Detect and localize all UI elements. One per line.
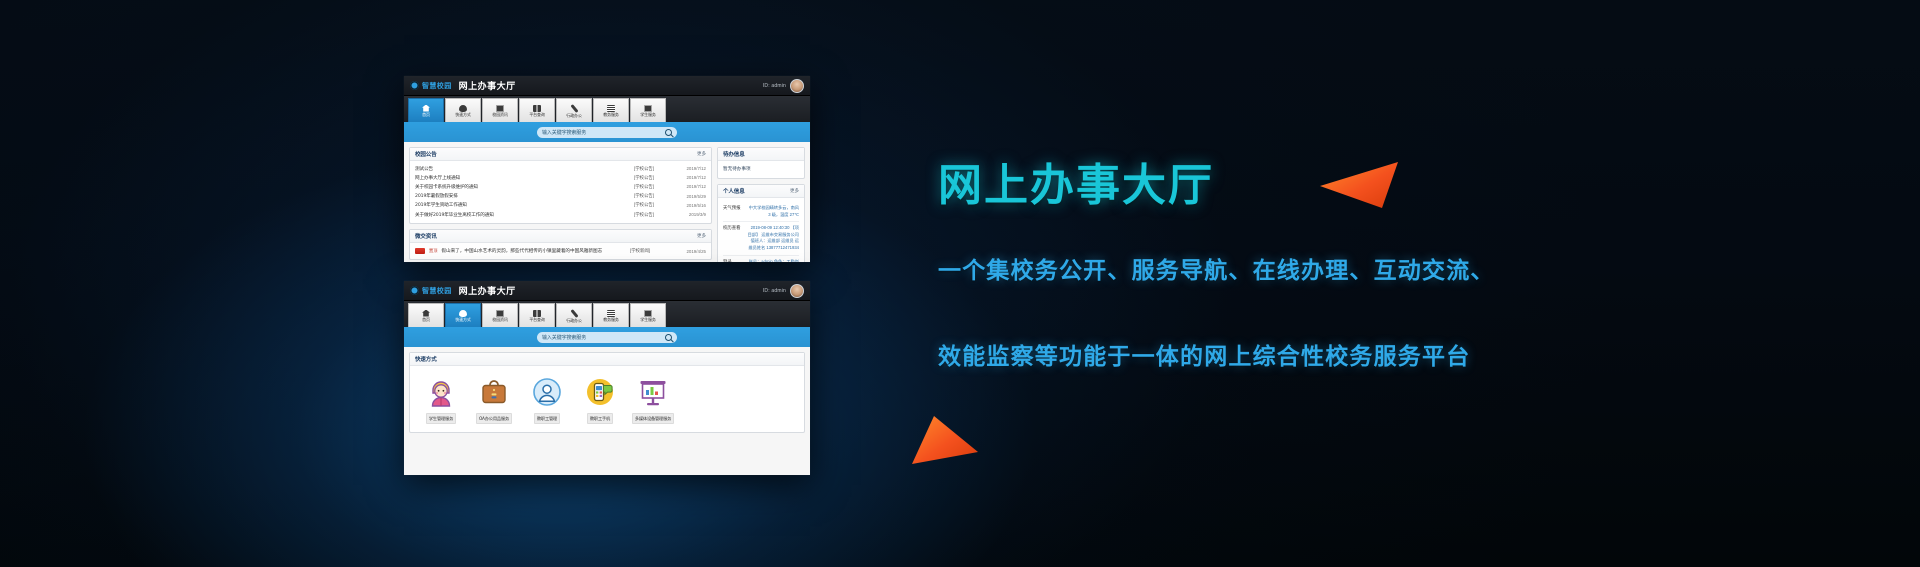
quick-access-card: 快速方式: [409, 352, 805, 433]
brand[interactable]: 智慧校园 网上办事大厅: [410, 79, 516, 92]
profile-card: 个人信息 更多 天气预报 中大学校园晴转多云，南风 3 级，温度 27℃ 校历查…: [717, 184, 805, 262]
news-tag: 置顶: [429, 248, 437, 254]
row-value: 中大学校园晴转多云，南风 3 级，温度 27℃: [747, 205, 799, 218]
primary-nav[interactable]: 首页 快速方式 校园资讯 平台查询 行政办公 教务服务: [404, 96, 810, 122]
user-id-label: ID: admin: [763, 288, 786, 294]
nav-label: 教务服务: [603, 318, 619, 322]
profile-body: 天气预报 中大学校园晴转多云，南风 3 级，温度 27℃ 校历查看 2019-0…: [718, 198, 804, 262]
notice-dept: [学校公告]: [622, 193, 666, 199]
browser-window-home[interactable]: 智慧校园 网上办事大厅 ID: admin 首页 快速方式 校园资讯: [404, 76, 810, 262]
page-title: 网上办事大厅: [938, 162, 1558, 210]
news-dept: [学校新闻]: [618, 248, 662, 254]
notice-card-header: 校园公告 更多: [410, 148, 711, 161]
row-key: 登录: [723, 259, 743, 262]
quick-item-label: 教职工管理: [534, 413, 560, 424]
search-placeholder: 输入关键字搜索服务: [542, 334, 665, 341]
presentation-chart-icon: [636, 375, 670, 409]
brand-title: 网上办事大厅: [459, 79, 516, 92]
more-link[interactable]: 更多: [697, 151, 706, 157]
nav-item-academic[interactable]: 教务服务: [593, 98, 629, 122]
news-date: 2019/4/25: [666, 249, 706, 254]
user-id-label: ID: admin: [763, 83, 786, 89]
cloud-icon: [459, 310, 467, 317]
notice-dept: [学校公告]: [622, 175, 666, 181]
orange-triangle-bottom: [906, 412, 984, 474]
search-placeholder: 输入关键字搜索服务: [542, 129, 665, 136]
search-bar[interactable]: 输入关键字搜索服务: [404, 327, 810, 347]
nav-label: 行政办公: [566, 114, 582, 118]
logo-mark-icon: [410, 286, 419, 295]
notice-date: 2019/7/12: [666, 184, 706, 189]
more-link[interactable]: 更多: [790, 188, 799, 194]
notice-date: 2019/7/12: [666, 175, 706, 180]
notice-dept: [学校公告]: [622, 166, 666, 172]
screen-icon: [644, 310, 652, 317]
quick-item-oa-supplies[interactable]: OA办公用品服务: [474, 375, 514, 424]
search-input[interactable]: 输入关键字搜索服务: [537, 332, 677, 343]
notice-date: 2019/3/9: [666, 212, 706, 217]
search-bar[interactable]: 输入关键字搜索服务: [404, 122, 810, 142]
table-row[interactable]: 2019年学生资助工作通知 [学校公告] 2019/5/16: [415, 201, 706, 210]
mobile-chat-icon: [583, 375, 617, 409]
quick-access-header: 快速方式: [410, 353, 804, 366]
list-item[interactable]: 置顶 假山来了，中国山水艺术的灵韵，那些代代相传的小镇里藏着的中国风雅新图志 […: [415, 248, 706, 254]
nav-label: 快速方式: [455, 113, 471, 117]
quick-item-staff-management[interactable]: 教职工管理: [527, 375, 567, 424]
profile-card-header: 个人信息 更多: [718, 185, 804, 198]
nav-label: 快速方式: [455, 318, 471, 322]
search-icon[interactable]: [665, 334, 672, 341]
window-bottom-body: 快速方式: [404, 347, 810, 475]
news-text: 假山来了，中国山水艺术的灵韵，那些代代相传的小镇里藏着的中国风雅新图志: [441, 248, 614, 254]
user-circle-icon: [530, 375, 564, 409]
card-title: 快速方式: [415, 355, 437, 363]
list-item: 校历查看 2019-08-09 12:40:30 【项目部】 运维市交易服务公司…: [723, 221, 799, 254]
more-link[interactable]: 更多: [697, 233, 706, 239]
table-row[interactable]: 关于校园卡系统升级维护的通知 [学校公告] 2019/7/12: [415, 182, 706, 191]
list-item: 天气预报 中大学校园晴转多云，南风 3 级，温度 27℃: [723, 202, 799, 221]
brand-title: 网上办事大厅: [459, 284, 516, 297]
home-icon: [422, 310, 430, 317]
nav-label: 教务服务: [603, 113, 619, 117]
notice-card: 校园公告 更多 测试公告 [学校公告] 2019/7/12 网上办事大厅上线通知…: [409, 147, 712, 224]
nav-item-quick[interactable]: 快速方式: [445, 303, 481, 327]
briefcase-icon: [477, 375, 511, 409]
list-icon: [607, 310, 615, 317]
grid-icon: [533, 105, 541, 112]
todo-card: 待办信息 暂无待办事项: [717, 147, 805, 179]
notice-title: 网上办事大厅上线通知: [415, 175, 622, 181]
wrench-icon: [570, 309, 578, 318]
cloud-icon: [459, 105, 467, 112]
notice-dept: [学校公告]: [622, 202, 666, 208]
student-avatar-icon: [424, 375, 458, 409]
quick-item-label: OA办公用品服务: [476, 413, 512, 424]
table-row[interactable]: 网上办事大厅上线通知 [学校公告] 2019/7/12: [415, 173, 706, 182]
logo-mark-icon: [410, 81, 419, 90]
hero-copy: 网上办事大厅 一个集校务公开、服务导航、在线办理、互动交流、 效能监察等功能于一…: [938, 162, 1558, 382]
quick-item-staff-mobile[interactable]: 教职工手机: [580, 375, 620, 424]
notice-dept: [学校公告]: [622, 184, 666, 190]
nav-item-home[interactable]: 首页: [408, 98, 444, 122]
header-right: ID: admin: [763, 284, 804, 298]
quick-body-filler: [409, 433, 805, 475]
notice-dept: [学校公告]: [622, 212, 666, 218]
quick-item-student-service[interactable]: 学生管理服务: [421, 375, 461, 424]
notice-date: 2019/7/12: [666, 166, 706, 171]
search-input[interactable]: 输入关键字搜索服务: [537, 127, 677, 138]
user-avatar[interactable]: [790, 79, 804, 93]
todo-body: 暂无待办事项: [718, 161, 804, 178]
nav-item-platform-query[interactable]: 平台查询: [519, 303, 555, 327]
nav-item-admin-office[interactable]: 行政办公: [556, 303, 592, 327]
notice-list: 测试公告 [学校公告] 2019/7/12 网上办事大厅上线通知 [学校公告] …: [410, 161, 711, 223]
user-avatar[interactable]: [790, 284, 804, 298]
side-column: 待办信息 暂无待办事项 个人信息 更多 天气预报 中大学校园晴转多云，南风: [717, 147, 805, 262]
card-title: 校园公告: [415, 150, 437, 158]
nav-label: 校园资讯: [492, 113, 508, 117]
table-row[interactable]: 测试公告 [学校公告] 2019/7/12: [415, 164, 706, 173]
row-value: 账号：admin 角色：工勤岗 · 部门: [747, 259, 799, 262]
nav-item-quick[interactable]: 快速方式: [445, 98, 481, 122]
todo-card-header: 待办信息: [718, 148, 804, 161]
grid-icon: [533, 310, 541, 317]
list-item: 登录 账号：admin 角色：工勤岗 · 部门: [723, 255, 799, 262]
notice-date: 2019/5/29: [666, 194, 706, 199]
brand-logo-text: 智慧校园: [422, 81, 452, 91]
nav-label: 校园资讯: [492, 318, 508, 322]
primary-nav[interactable]: 首页 快速方式 校园资讯 平台查询 行政办公 教务服务: [404, 301, 810, 327]
hero-subtitle-line-1: 一个集校务公开、服务导航、在线办理、互动交流、: [938, 246, 1558, 296]
brand[interactable]: 智慧校园 网上办事大厅: [410, 284, 516, 297]
hero-subtitle-line-2: 效能监察等功能于一体的网上综合性校务服务平台: [938, 332, 1558, 382]
nav-item-student[interactable]: 学生服务: [630, 98, 666, 122]
row-key: 天气预报: [723, 205, 743, 218]
nav-label: 平台查询: [529, 318, 545, 322]
nav-item-admin-office[interactable]: 行政办公: [556, 98, 592, 122]
quick-access-grid: 学生管理服务 OA办公用品服务: [410, 366, 804, 432]
header-right: ID: admin: [763, 79, 804, 93]
nav-label: 平台查询: [529, 113, 545, 117]
news-card: 微交资讯 更多 置顶 假山来了，中国山水艺术的灵韵，那些代代相传的小镇里藏着的中…: [409, 229, 712, 260]
pin-flag-icon: [415, 248, 425, 254]
browser-window-quick-access[interactable]: 智慧校园 网上办事大厅 ID: admin 首页 快速方式 校园资讯: [404, 281, 810, 475]
notice-title: 关于做好2019年毕业生离校工作的通知: [415, 212, 622, 218]
window-bottom-header: 智慧校园 网上办事大厅 ID: admin: [404, 281, 810, 301]
table-row[interactable]: 关于做好2019年毕业生离校工作的通知 [学校公告] 2019/3/9: [415, 210, 706, 219]
window-top-body: 校园公告 更多 测试公告 [学校公告] 2019/7/12 网上办事大厅上线通知…: [404, 142, 810, 262]
home-icon: [422, 105, 430, 112]
quick-item-label: 教职工手机: [587, 413, 613, 424]
row-value: 2019-08-09 12:40:30 【项目部】 运维市交易服务公司 值班人：…: [747, 225, 799, 251]
news-list: 置顶 假山来了，中国山水艺术的灵韵，那些代代相传的小镇里藏着的中国风雅新图志 […: [410, 243, 711, 259]
slide-canvas: 智慧校园 网上办事大厅 ID: admin 首页 快速方式 校园资讯: [0, 0, 1920, 567]
nav-item-academic[interactable]: 教务服务: [593, 303, 629, 327]
row-key: 校历查看: [723, 225, 743, 251]
brand-logo-text: 智慧校园: [422, 286, 452, 296]
nav-label: 学生服务: [640, 113, 656, 117]
list-icon: [607, 105, 615, 112]
card-title: 个人信息: [723, 187, 745, 195]
todo-empty-text: 暂无待办事项: [723, 165, 799, 173]
quick-item-multimedia-device[interactable]: 多媒体设备管理服务: [633, 375, 673, 424]
notice-title: 关于校园卡系统升级维护的通知: [415, 184, 622, 190]
nav-label: 行政办公: [566, 319, 582, 323]
window-top-header: 智慧校园 网上办事大厅 ID: admin: [404, 76, 810, 96]
notice-title: 2019年暑假放假安排: [415, 193, 622, 199]
main-column: 校园公告 更多 测试公告 [学校公告] 2019/7/12 网上办事大厅上线通知…: [409, 147, 712, 262]
quick-item-label: 学生管理服务: [426, 413, 456, 424]
nav-item-home[interactable]: 首页: [408, 303, 444, 327]
nav-item-student[interactable]: 学生服务: [630, 303, 666, 327]
quick-item-label: 多媒体设备管理服务: [632, 413, 674, 424]
search-icon[interactable]: [665, 129, 672, 136]
nav-label: 首页: [422, 318, 430, 322]
nav-label: 学生服务: [640, 318, 656, 322]
notice-title: 2019年学生资助工作通知: [415, 202, 622, 208]
screen-icon: [644, 105, 652, 112]
card-title: 微交资讯: [415, 232, 437, 240]
wrench-icon: [570, 104, 578, 113]
nav-item-campus-news[interactable]: 校园资讯: [482, 303, 518, 327]
image-icon: [496, 310, 504, 317]
notice-date: 2019/5/16: [666, 203, 706, 208]
news-card-header: 微交资讯 更多: [410, 230, 711, 243]
notice-title: 测试公告: [415, 166, 622, 172]
nav-item-campus-news[interactable]: 校园资讯: [482, 98, 518, 122]
nav-item-platform-query[interactable]: 平台查询: [519, 98, 555, 122]
nav-label: 首页: [422, 113, 430, 117]
table-row[interactable]: 2019年暑假放假安排 [学校公告] 2019/5/29: [415, 192, 706, 201]
card-title: 待办信息: [723, 150, 745, 158]
image-icon: [496, 105, 504, 112]
